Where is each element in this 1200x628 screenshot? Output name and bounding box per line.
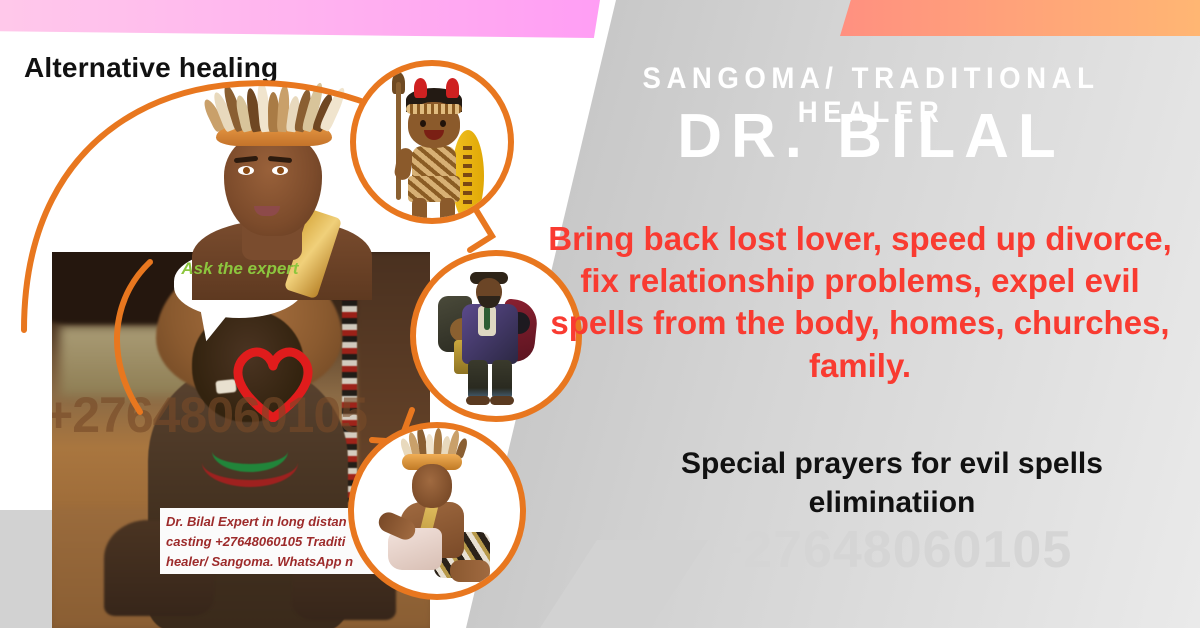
warrior-eye-right [440,120,446,127]
warrior-plume-right [446,78,459,98]
circle-crouching-healer [348,422,526,600]
traveller-tie [484,306,490,330]
traveller-leg-left [468,360,488,400]
crouch-leg [450,560,490,582]
special-offer-text: Special prayers for evil spells eliminat… [596,444,1188,522]
top-orange-strip [840,0,1200,36]
warrior-spear [396,82,401,200]
circle-zulu-warrior [350,60,514,224]
warrior-leg-right [440,198,455,224]
warrior-leg-left [412,198,427,224]
speech-bubble-text: Ask the expert [178,258,302,281]
phone-watermark: +27648060105 [596,520,1188,580]
poster-canvas: Alternative healing Ask the expert +2764… [0,0,1200,628]
warrior-plume-left [414,78,427,98]
traveller-shoe-left [466,396,490,405]
warrior-headband [406,104,462,114]
healer-name: DR. BILAL [566,104,1176,169]
warrior-eye-left [420,120,426,127]
traveller-shoe-right [490,396,514,405]
crouch-head [412,464,452,508]
services-text: Bring back lost lover, speed up divorce,… [536,218,1184,387]
traveller-leg-right [492,360,512,400]
